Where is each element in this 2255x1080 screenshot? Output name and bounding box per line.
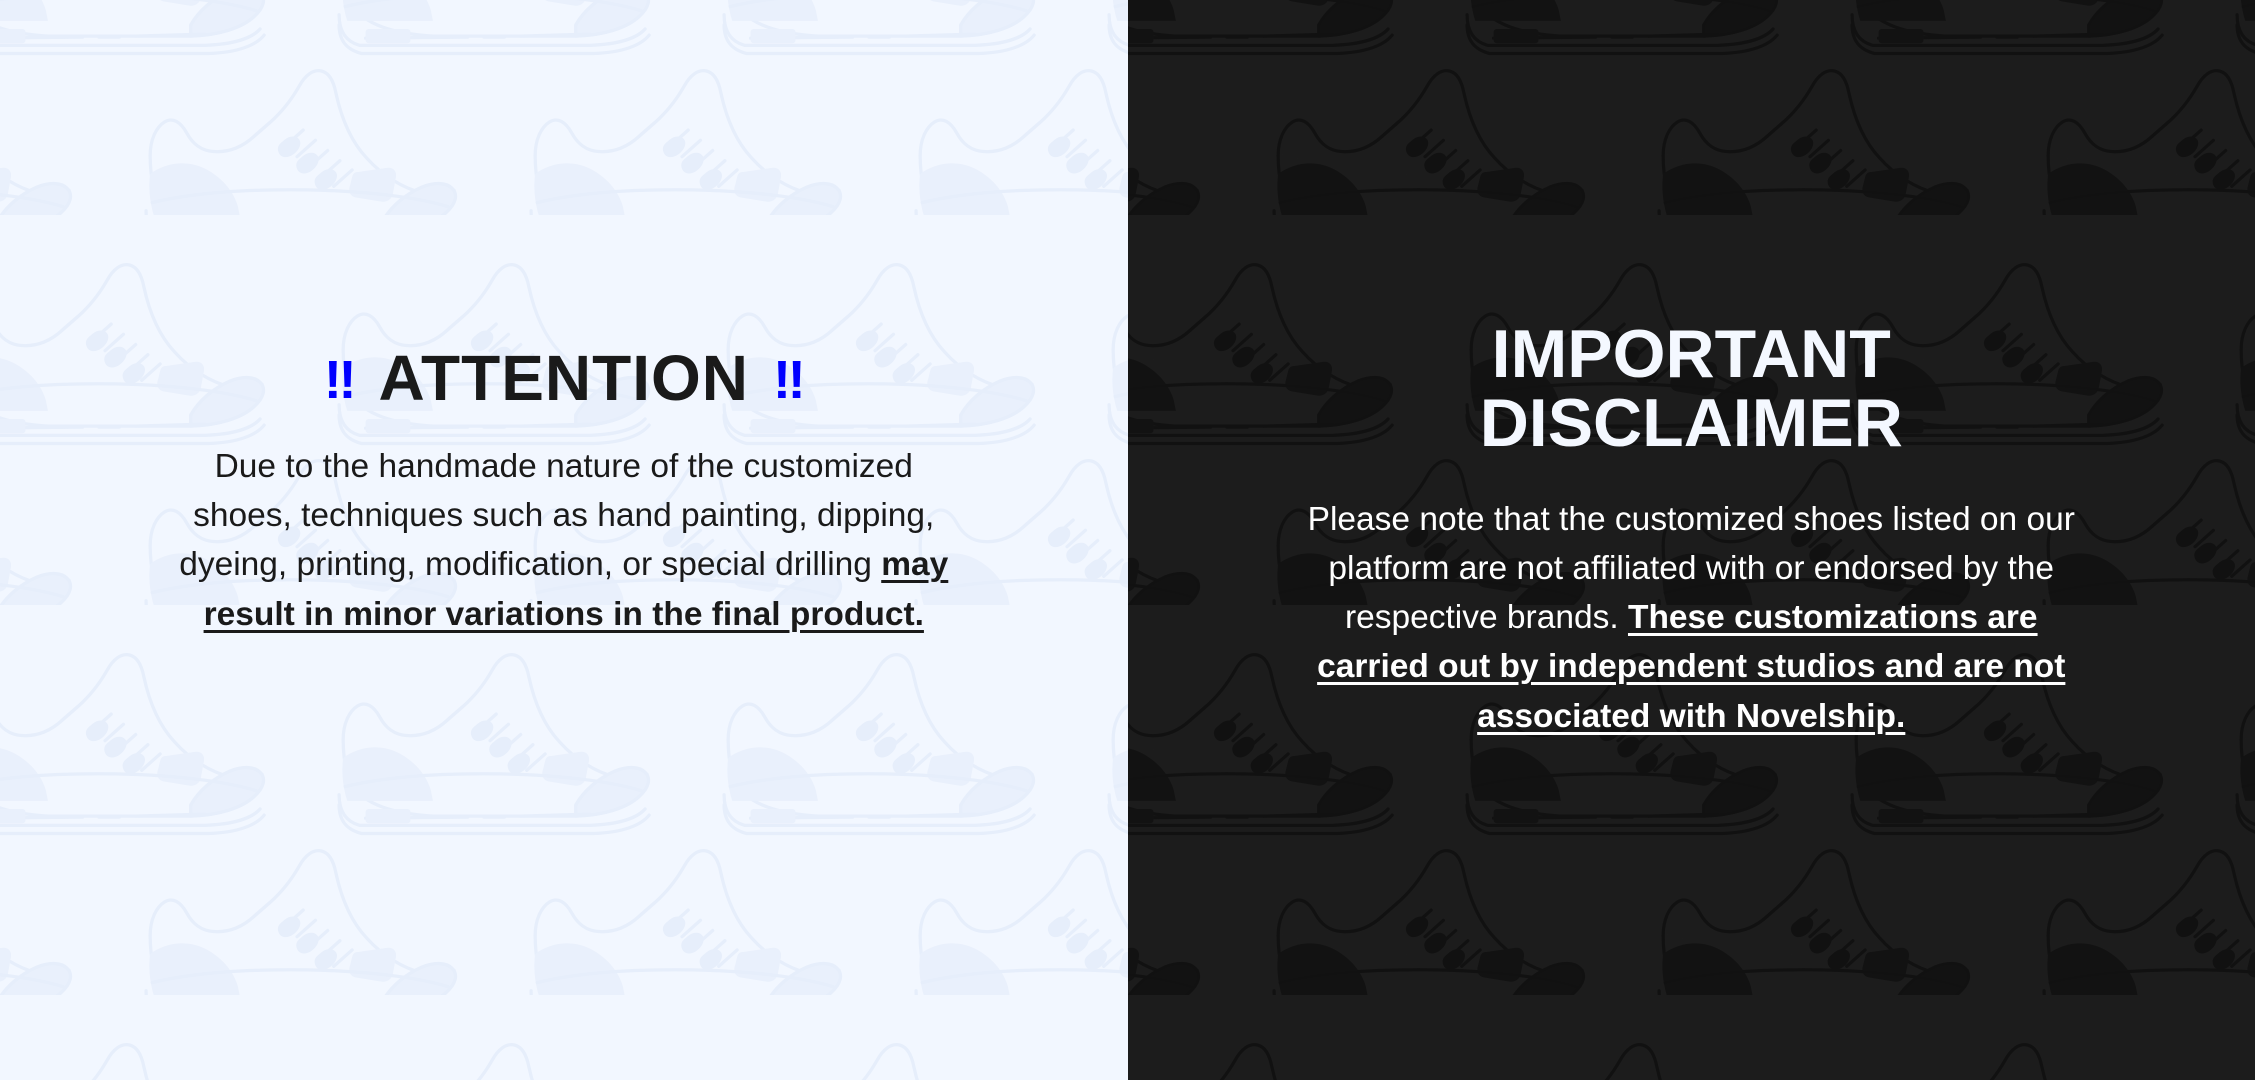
double-exclamation-icon-left: ‼ bbox=[324, 353, 355, 407]
disclaimer-content: IMPORTANT DISCLAIMER Please note that th… bbox=[1128, 320, 2255, 741]
attention-body-normal: Due to the handmade nature of the custom… bbox=[179, 448, 934, 583]
disclaimer-body: Please note that the customized shoes li… bbox=[1291, 495, 2091, 741]
double-exclamation-icon-right: ‼ bbox=[773, 353, 804, 407]
disclaimer-heading-line-2: DISCLAIMER bbox=[1128, 389, 2255, 458]
attention-heading: ‼ATTENTION‼ bbox=[0, 346, 1128, 410]
attention-content: ‼ATTENTION‼ Due to the handmade nature o… bbox=[0, 346, 1128, 639]
disclaimer-heading-line-1: IMPORTANT bbox=[1128, 320, 2255, 389]
disclaimer-panel: IMPORTANT DISCLAIMER Please note that th… bbox=[1128, 0, 2255, 1080]
attention-panel: ‼ATTENTION‼ Due to the handmade nature o… bbox=[0, 0, 1128, 1080]
attention-body: Due to the handmade nature of the custom… bbox=[169, 442, 959, 639]
attention-heading-text: ATTENTION bbox=[379, 342, 749, 414]
split-banner: ‼ATTENTION‼ Due to the handmade nature o… bbox=[0, 0, 2255, 1080]
disclaimer-heading: IMPORTANT DISCLAIMER bbox=[1128, 320, 2255, 459]
